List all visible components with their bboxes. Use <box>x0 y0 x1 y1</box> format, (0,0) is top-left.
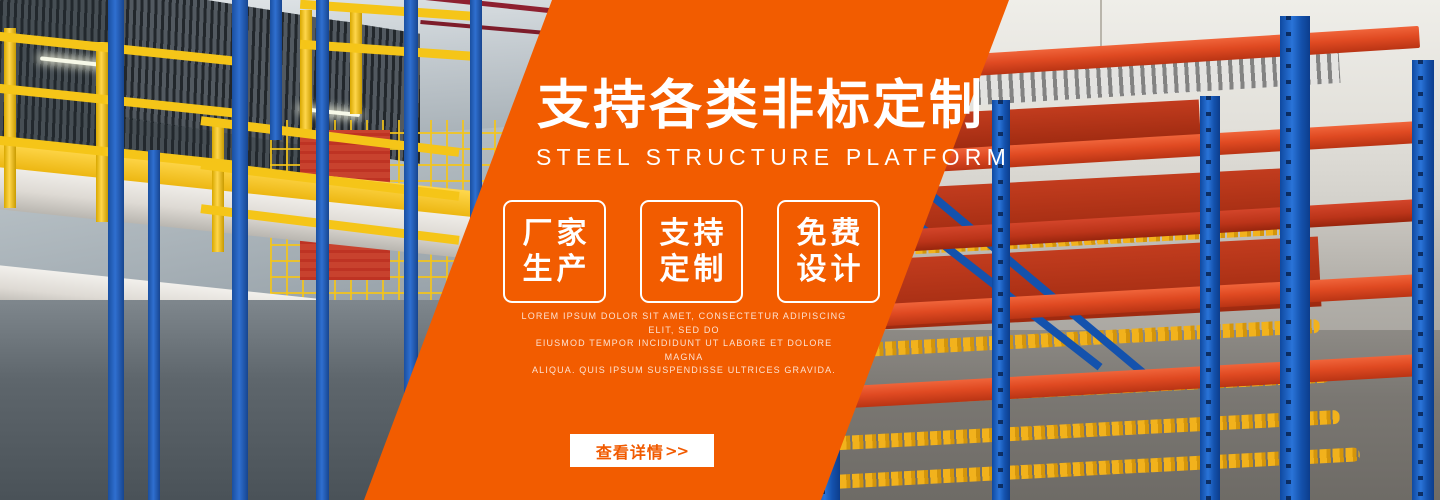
feature-badge-line1: 免费 <box>793 216 865 252</box>
banner-subheadline: STEEL STRUCTURE PLATFORM <box>536 144 1011 170</box>
banner-headline: 支持各类非标定制 <box>537 76 985 136</box>
chevron-right-icon: >> <box>665 442 688 460</box>
view-details-label: 查看详情 <box>596 439 664 463</box>
feature-badge-line2: 生产 <box>519 252 591 288</box>
description-line-2: EIUSMOD TEMPOR INCIDIDUNT UT LABORE ET D… <box>519 337 849 364</box>
feature-badge-free-design: 免费 设计 <box>777 200 880 303</box>
feature-badge-line1: 厂家 <box>519 216 591 252</box>
feature-badge-line1: 支持 <box>656 216 728 252</box>
feature-badge-line2: 定制 <box>656 252 728 288</box>
description-line-1: LOREM IPSUM DOLOR SIT AMET, CONSECTETUR … <box>519 310 849 337</box>
banner-content: 支持各类非标定制 STEEL STRUCTURE PLATFORM 厂家 生产 … <box>0 0 1440 500</box>
feature-badge-line2: 设计 <box>793 252 865 288</box>
banner-description: LOREM IPSUM DOLOR SIT AMET, CONSECTETUR … <box>519 310 849 378</box>
feature-badge-manufacturer: 厂家 生产 <box>503 200 606 303</box>
description-line-3: ALIQUA. QUIS IPSUM SUSPENDISSE ULTRICES … <box>519 364 849 378</box>
view-details-button[interactable]: 查看详情>> <box>570 434 714 467</box>
feature-badge-customization: 支持 定制 <box>640 200 743 303</box>
feature-badge-row: 厂家 生产 支持 定制 免费 设计 <box>503 200 880 303</box>
promo-banner: 支持各类非标定制 STEEL STRUCTURE PLATFORM 厂家 生产 … <box>0 0 1440 500</box>
